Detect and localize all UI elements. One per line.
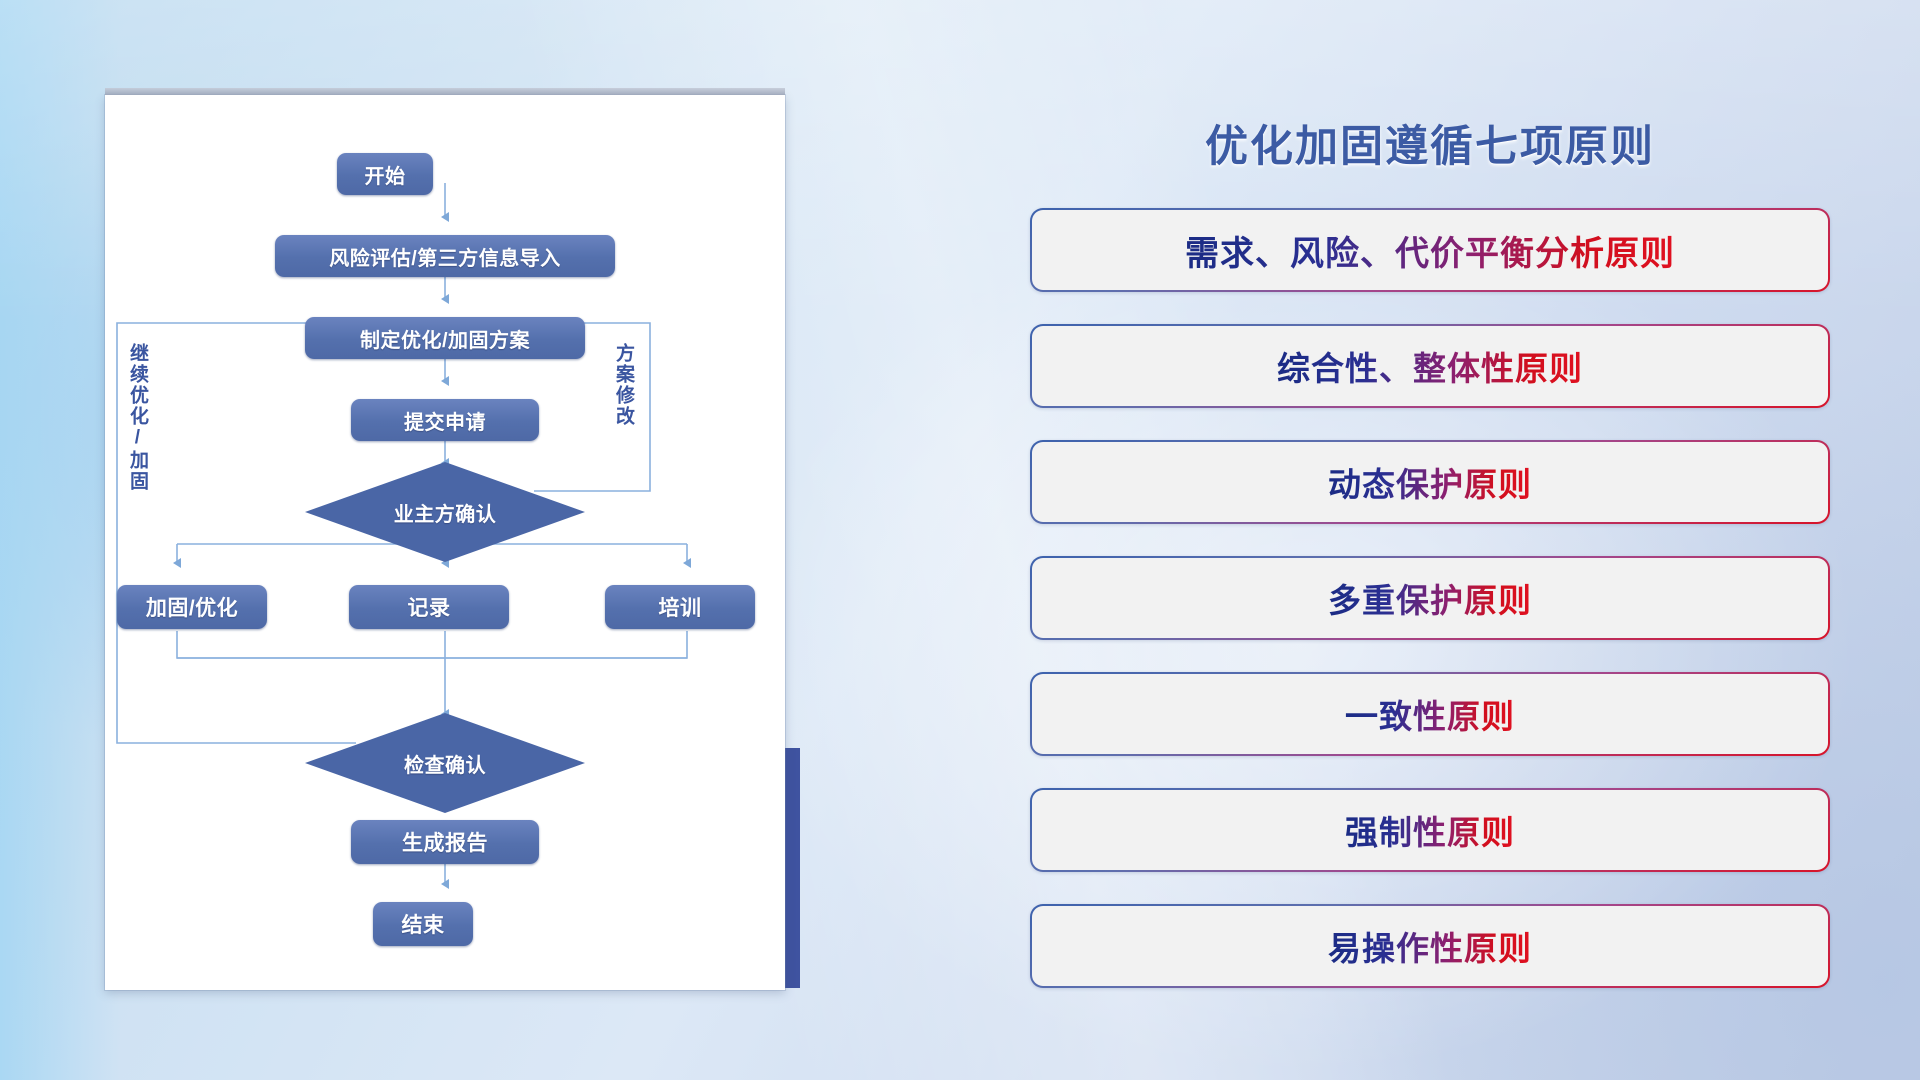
- principle-label: 需求、风险、代价平衡分析原则: [1185, 226, 1675, 275]
- background-left-band: [0, 0, 120, 1080]
- principle-label: 多重保护原则: [1328, 574, 1532, 622]
- flow-node-inspection-confirm[interactable]: 检查确认: [305, 713, 585, 813]
- principles-list: 需求、风险、代价平衡分析原则 综合性、整体性原则 动态保护原则 多重保护原则 一…: [1030, 208, 1830, 988]
- flow-node-start[interactable]: 开始: [337, 153, 433, 195]
- principles-panel: 优化加固遵循七项原则 需求、风险、代价平衡分析原则 综合性、整体性原则 动态保护…: [1030, 100, 1830, 1000]
- flow-edge-label-plan-revision: 方案修改: [613, 343, 633, 427]
- flow-node-record[interactable]: 记录: [349, 585, 509, 629]
- principle-label: 强制性原则: [1345, 806, 1515, 854]
- flow-node-training[interactable]: 培训: [605, 585, 755, 629]
- flow-node-make-plan[interactable]: 制定优化/加固方案: [305, 317, 585, 359]
- flow-edge-label-continue-optimize: 继续优化/加固: [127, 343, 147, 492]
- flow-node-submit-application[interactable]: 提交申请: [351, 399, 539, 441]
- principle-item-4[interactable]: 多重保护原则: [1030, 556, 1830, 640]
- principle-item-1[interactable]: 需求、风险、代价平衡分析原则: [1030, 208, 1830, 292]
- principle-item-6[interactable]: 强制性原则: [1030, 788, 1830, 872]
- principle-item-7[interactable]: 易操作性原则: [1030, 904, 1830, 988]
- principle-item-2[interactable]: 综合性、整体性原则: [1030, 324, 1830, 408]
- flowchart-card: 开始 风险评估/第三方信息导入 制定优化/加固方案 提交申请 业主方确认 加固/…: [105, 95, 785, 990]
- flow-node-label: 制定优化/加固方案: [360, 324, 530, 353]
- principle-item-3[interactable]: 动态保护原则: [1030, 440, 1830, 524]
- principle-label: 综合性、整体性原则: [1277, 342, 1583, 390]
- flow-node-label: 生成报告: [402, 827, 488, 857]
- flow-node-label: 开始: [365, 160, 406, 189]
- principle-item-5[interactable]: 一致性原则: [1030, 672, 1830, 756]
- flow-node-label: 业主方确认: [394, 498, 497, 527]
- flow-node-label: 结束: [402, 909, 445, 939]
- principle-label: 一致性原则: [1345, 690, 1515, 738]
- principle-label: 易操作性原则: [1328, 922, 1532, 970]
- flow-node-owner-confirm[interactable]: 业主方确认: [305, 462, 585, 562]
- flow-node-label: 加固/优化: [146, 592, 238, 622]
- principle-label: 动态保护原则: [1328, 458, 1532, 506]
- flow-node-generate-report[interactable]: 生成报告: [351, 820, 539, 864]
- flow-node-risk-assessment[interactable]: 风险评估/第三方信息导入: [275, 235, 615, 277]
- principles-title: 优化加固遵循七项原则: [1030, 100, 1830, 186]
- flow-node-label: 检查确认: [404, 749, 486, 778]
- flow-node-label: 培训: [659, 592, 702, 622]
- flow-node-reinforce-optimize[interactable]: 加固/优化: [117, 585, 267, 629]
- flow-node-end[interactable]: 结束: [373, 902, 473, 946]
- flow-node-label: 提交申请: [404, 406, 486, 435]
- flow-node-label: 风险评估/第三方信息导入: [329, 242, 561, 271]
- flow-node-label: 记录: [408, 592, 451, 622]
